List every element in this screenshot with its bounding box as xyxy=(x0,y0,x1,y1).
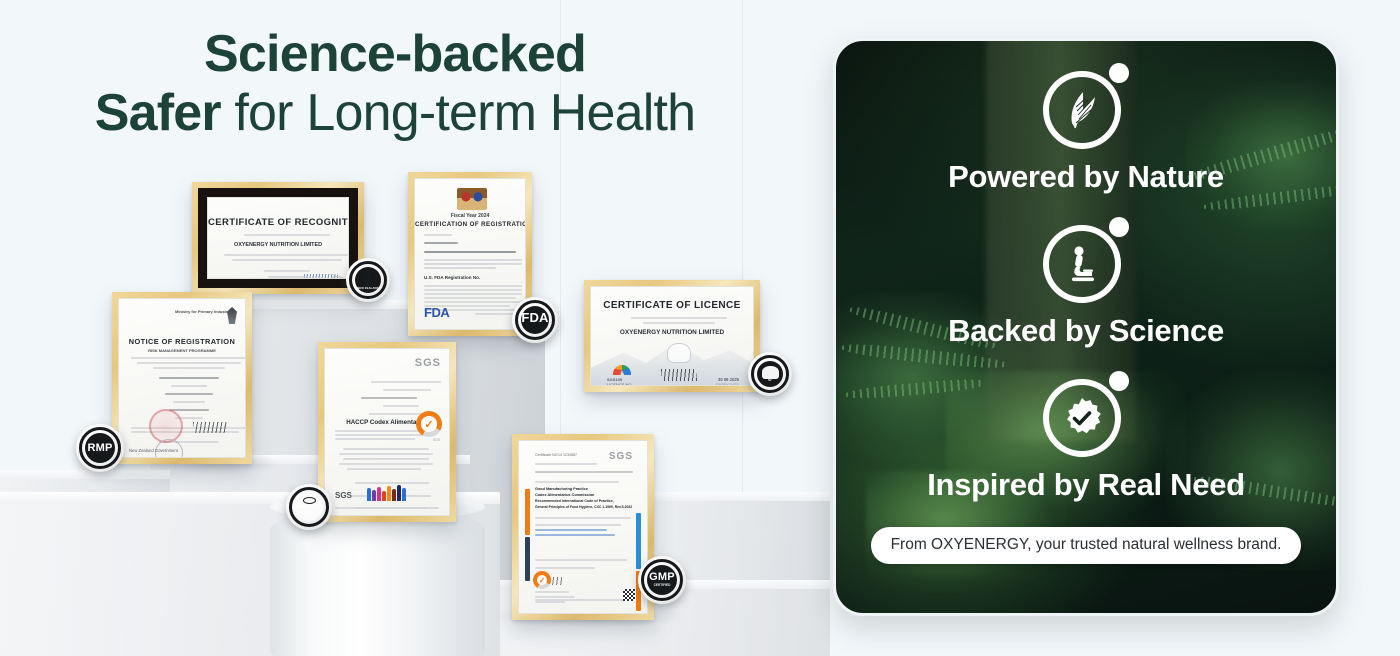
certificate-company: OXYENERGY NUTRITION LIMITED xyxy=(591,329,753,336)
certificate-title: CERTIFICATE OF LICENCE xyxy=(591,300,753,311)
brand-caption: From OXYENERGY, your trusted natural wel… xyxy=(871,527,1302,564)
brand-values-panel: Powered by Nature Backed by Science xyxy=(833,38,1339,616)
licence-date: 30 06 2025 xyxy=(718,377,739,382)
fda-registered-seal[interactable]: FDA REGISTERED xyxy=(512,297,558,343)
headline-line-2: Safer for Long-term Health xyxy=(0,87,790,140)
certificate-title: NOTICE OF REGISTRATION xyxy=(119,337,245,346)
sgs-check-badge: ✓ xyxy=(533,571,551,589)
nz-fern-seal[interactable]: NEW ZEALAND xyxy=(346,258,390,302)
certificates-showcase: Science-backed Safer for Long-term Healt… xyxy=(0,0,830,656)
registration-field-label: U.S. FDA Registration No. xyxy=(424,275,480,280)
rmp-seal[interactable]: RMP xyxy=(76,424,124,472)
issuer-footer: New Zealand Government xyxy=(129,448,178,453)
gmp-line-1: Good Manufacturing Practice xyxy=(535,487,588,491)
headline-line-2-rest: for Long-term Health xyxy=(221,84,696,142)
leaf-icon xyxy=(1043,63,1129,149)
gmp-seal[interactable]: GMP CERTIFIED xyxy=(638,556,686,604)
fda-logo: FDA xyxy=(424,305,449,320)
microscope-icon xyxy=(1043,217,1129,303)
feature-inspired-by-real-need: Inspired by Real Need xyxy=(927,371,1245,503)
certificate-subtitle: RISK MANAGEMENT PROGRAMME xyxy=(119,348,245,353)
gmp-line-4: General Principles of Food Hygiene, CXC … xyxy=(535,505,632,509)
eagle-emblem xyxy=(457,188,487,210)
gmp-certificate[interactable]: SGS Certificate NZ/14 1234567 Good Manuf… xyxy=(512,434,654,620)
mountain-glyph xyxy=(762,366,779,379)
gmp-line-3: Recommended International Code of Practi… xyxy=(535,499,614,503)
feature-label: Backed by Science xyxy=(948,313,1224,349)
signature-mark xyxy=(661,369,697,381)
signature-mark xyxy=(193,422,227,433)
headline-line-1: Science-backed xyxy=(0,28,790,81)
fiscal-year: Fiscal Year 2024 xyxy=(415,213,525,219)
eye-glyph xyxy=(303,497,316,504)
haccp-seal[interactable]: HACCP ITXOC xyxy=(286,484,332,530)
issuer-name: Ministry for Primary Industries xyxy=(175,309,233,314)
haccp-codex-alimentarius-certificate[interactable]: SGS HACCP Codex Alimentarius xyxy=(318,342,456,522)
accreditation-marks xyxy=(367,485,406,501)
sgs-logo: SGS xyxy=(415,357,441,369)
certificate-company: OXYENERGY NUTRITION LIMITED xyxy=(208,242,348,248)
red-stamp-seal xyxy=(149,409,183,443)
feature-powered-by-nature: Powered by Nature xyxy=(948,63,1224,195)
nz-standards-seal[interactable]: NZ xyxy=(748,352,792,396)
sgs-check-badge: ✓ xyxy=(416,411,442,437)
fern-glyph xyxy=(361,270,376,287)
watermark-emblem xyxy=(667,343,691,363)
feature-label: Inspired by Real Need xyxy=(927,467,1245,503)
sgs-footer-logo: SGS xyxy=(335,491,352,500)
qr-code xyxy=(623,589,635,601)
feature-label: Powered by Nature xyxy=(948,159,1224,195)
certificate-title: CERTIFICATE OF RECOGNITION xyxy=(208,217,348,228)
certificate-of-licence[interactable]: CERTIFICATE OF LICENCE OXYENERGY NUTRITI… xyxy=(584,280,760,392)
feature-backed-by-science: Backed by Science xyxy=(948,217,1224,349)
headline-emphasis: Safer xyxy=(95,84,221,142)
certificate-title: CERTIFICATION OF REGISTRATION xyxy=(415,221,525,228)
notice-of-registration[interactable]: Ministry for Primary Industries NOTICE O… xyxy=(112,292,252,464)
page-title: Science-backed Safer for Long-term Healt… xyxy=(0,28,790,140)
verified-badge-icon xyxy=(1043,371,1129,457)
sgs-logo: SGS xyxy=(609,451,633,462)
gmp-line-2: Codex Alimentarius Commission xyxy=(535,493,594,497)
certificate-of-recognition[interactable]: CERTIFICATE OF RECOGNITION OXYENERGY NUT… xyxy=(192,182,364,294)
